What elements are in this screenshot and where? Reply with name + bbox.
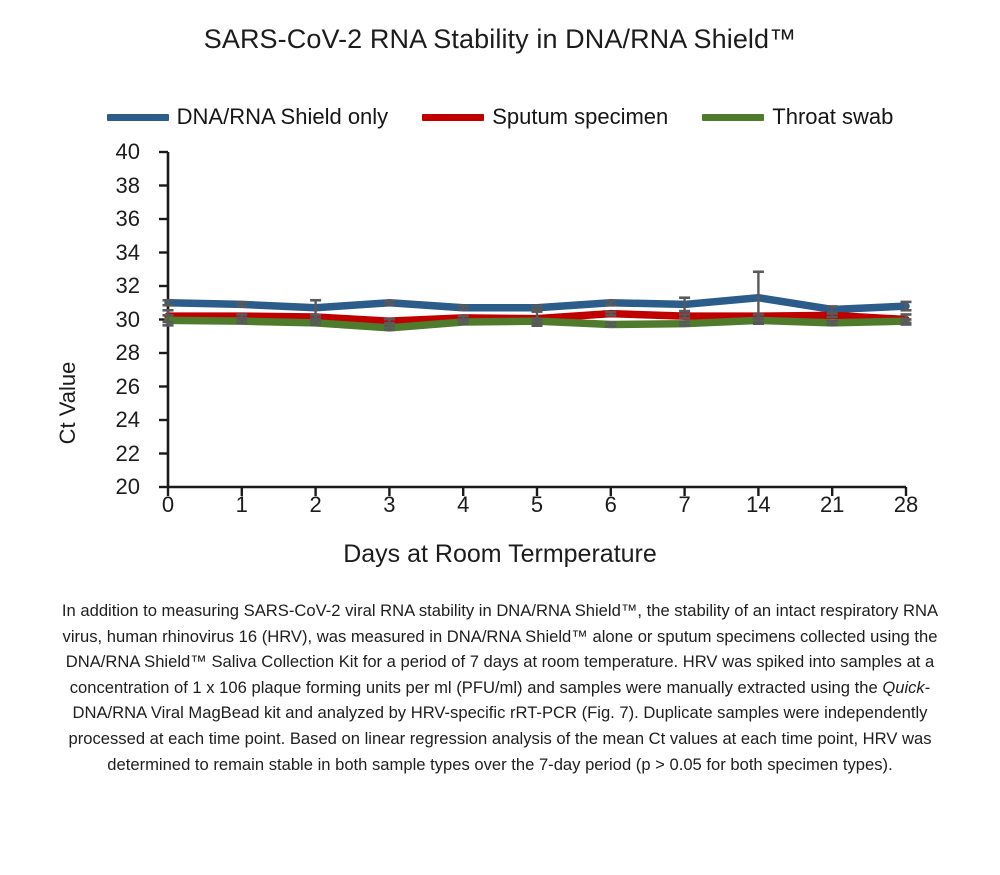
caption-part-1: In addition to measuring SARS-CoV-2 vira…: [62, 601, 938, 697]
chart-legend: DNA/RNA Shield onlySputum specimenThroat…: [0, 104, 1000, 130]
legend-line-swatch-icon: [107, 114, 169, 121]
plot-area: Ct Value 4038363432302826242220 01234567…: [0, 140, 1000, 580]
x-axis-title: Days at Room Termperature: [0, 540, 1000, 569]
legend-line-swatch-icon: [702, 114, 764, 121]
legend-item-1[interactable]: Sputum specimen: [422, 104, 668, 130]
legend-line-swatch-icon: [422, 114, 484, 121]
chart-title: SARS-CoV-2 RNA Stability in DNA/RNA Shie…: [0, 24, 1000, 55]
legend-item-2[interactable]: Throat swab: [702, 104, 893, 130]
x-axis-ticks: [168, 487, 906, 496]
legend-label: DNA/RNA Shield only: [177, 104, 389, 130]
line-chart-svg: [0, 140, 1000, 500]
legend-label: Throat swab: [772, 104, 893, 130]
figure-container: SARS-CoV-2 RNA Stability in DNA/RNA Shie…: [0, 0, 1000, 875]
caption-italic-term: Quick: [882, 678, 924, 697]
legend-item-0[interactable]: DNA/RNA Shield only: [107, 104, 389, 130]
figure-caption: In addition to measuring SARS-CoV-2 vira…: [55, 598, 945, 777]
legend-label: Sputum specimen: [492, 104, 668, 130]
